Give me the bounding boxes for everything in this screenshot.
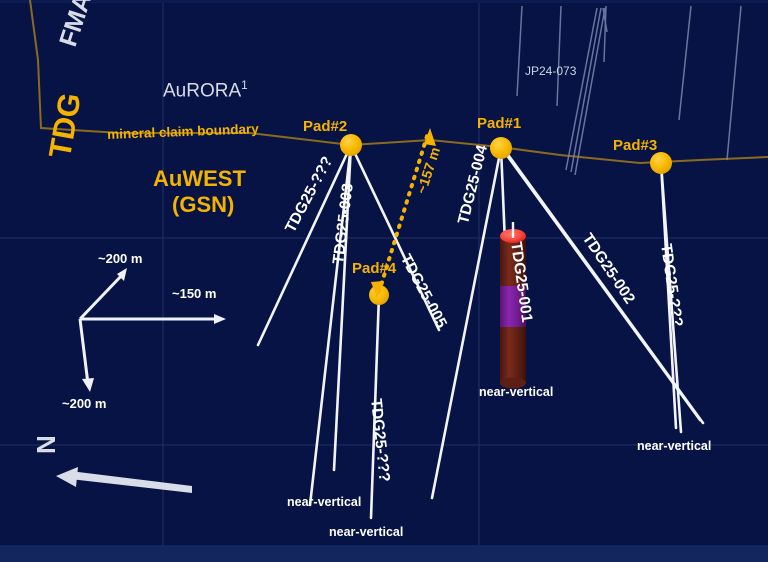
top-edge-bar: [0, 0, 768, 3]
compass-north-letter: N: [33, 435, 59, 454]
bottom-bar: [0, 545, 768, 562]
scale-label-lower-200m: ~200 m: [62, 397, 106, 410]
region-label-auwest-line1: AuWEST: [153, 168, 246, 190]
aurora-superscript: 1: [241, 79, 248, 92]
aurora-text: AuRORA: [163, 80, 241, 101]
pad-marker-pad3: [650, 152, 672, 174]
region-label-aurora: AuRORA1: [163, 80, 248, 100]
scale-label-upper-200m: ~200 m: [98, 252, 142, 265]
pad-marker-pad1: [490, 137, 512, 159]
near-vertical-label-1: near-vertical: [287, 496, 361, 509]
pad-label-pad1[interactable]: Pad#1: [477, 116, 521, 131]
compass-north-arrow: [56, 467, 192, 493]
drill-plan-diagram: FMAR AuRORA1 mineral claim boundary TDG …: [0, 0, 768, 562]
pad-label-pad3[interactable]: Pad#3: [613, 138, 657, 153]
drill-hole-traces: [258, 145, 703, 518]
near-vertical-label-2: near-vertical: [329, 526, 403, 539]
pad-label-pad4[interactable]: Pad#4: [352, 261, 396, 276]
near-vertical-label-4: near-vertical: [637, 440, 711, 453]
hole-label-jp24-073[interactable]: JP24-073: [525, 65, 576, 77]
scale-label-150m: ~150 m: [172, 287, 216, 300]
near-vertical-label-3: near-vertical: [479, 386, 553, 399]
pad-marker-pad2: [340, 134, 362, 156]
pad-label-pad2[interactable]: Pad#2: [303, 119, 347, 134]
region-label-auwest-line2: (GSN): [172, 194, 234, 216]
